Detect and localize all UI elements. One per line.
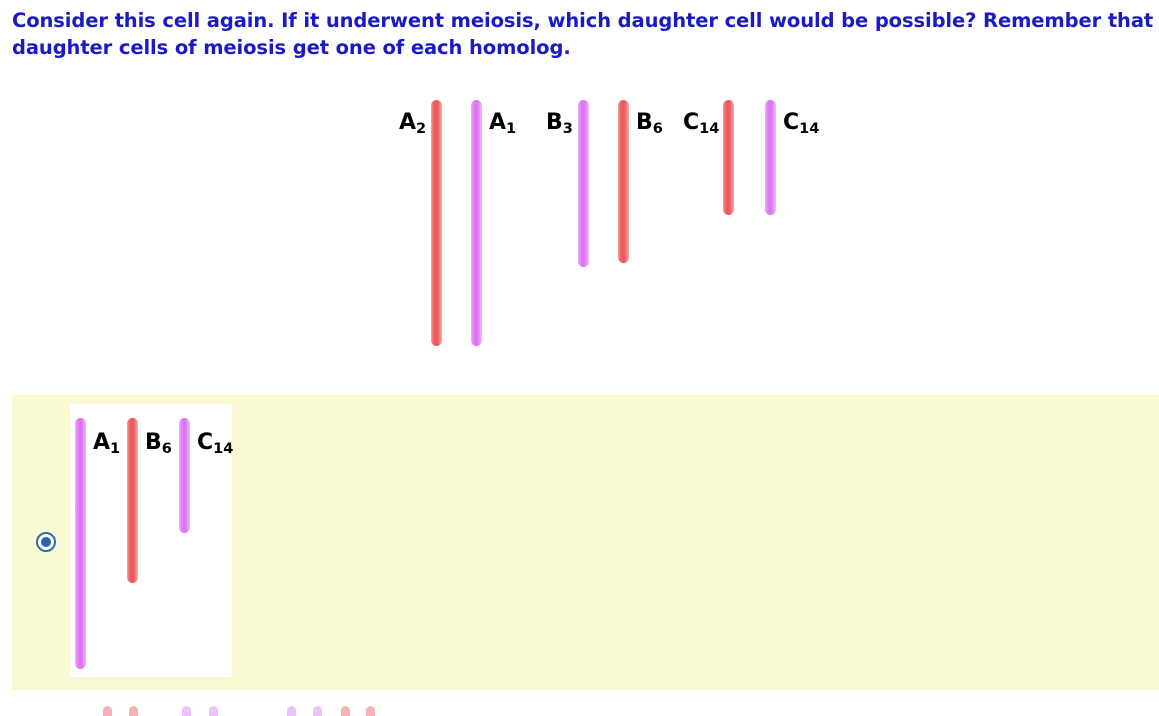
chromosome-label-c14-option1-2: C14 [197, 432, 233, 454]
chromosome-label-c14-parent-5: C14 [783, 112, 819, 134]
chromosome-label-b3-parent-2: B3 [546, 112, 573, 134]
next-option-chromosome-tip-5 [313, 706, 322, 716]
chromosome-b3-parent-2 [578, 100, 589, 267]
chromosome-label-b6-option1-1: B6 [145, 432, 172, 454]
label-subscript: 14 [699, 121, 719, 137]
label-base: B [546, 110, 563, 135]
label-base: B [145, 430, 162, 455]
chromosome-c14-option1-2 [179, 418, 190, 533]
label-base: B [636, 110, 653, 135]
next-option-chromosome-tip-3 [209, 706, 218, 716]
chromosome-c14-parent-5 [765, 100, 776, 215]
chromosome-label-b6-parent-3: B6 [636, 112, 663, 134]
chromosome-b6-parent-3 [618, 100, 629, 263]
chromosome-a1-option1-0 [75, 418, 86, 669]
answer-options-list: A1B6C14 [0, 386, 1159, 716]
next-option-chromosome-tip-2 [182, 706, 191, 716]
next-option-chromosome-tip-6 [341, 706, 350, 716]
parent-cell-figure: A2A1B3B6C14C14 [0, 0, 1159, 386]
answer-option-1[interactable]: A1B6C14 [12, 395, 1159, 690]
chromosome-label-a1-option1-0: A1 [93, 432, 120, 454]
label-subscript: 2 [416, 121, 426, 137]
chromosome-label-a1-parent-1: A1 [489, 112, 516, 134]
next-option-chromosome-tip-0 [103, 706, 112, 716]
label-base: C [683, 110, 699, 135]
label-base: C [197, 430, 213, 455]
next-option-chromosome-tip-7 [366, 706, 375, 716]
label-subscript: 3 [563, 121, 573, 137]
label-subscript: 14 [799, 121, 819, 137]
label-subscript: 14 [213, 441, 233, 457]
chromosome-c14-parent-4 [723, 100, 734, 215]
chromosome-label-c14-parent-4: C14 [683, 112, 719, 134]
label-base: A [489, 110, 506, 135]
label-base: C [783, 110, 799, 135]
label-subscript: 6 [653, 121, 663, 137]
label-base: A [93, 430, 110, 455]
chromosome-a1-parent-1 [471, 100, 482, 346]
chromosome-a2-parent-0 [431, 100, 442, 346]
label-base: A [399, 110, 416, 135]
label-subscript: 1 [110, 441, 120, 457]
next-option-partial-preview [0, 706, 1159, 716]
label-subscript: 6 [162, 441, 172, 457]
next-option-chromosome-tip-4 [287, 706, 296, 716]
chromosome-label-a2-parent-0: A2 [399, 112, 426, 134]
next-option-chromosome-tip-1 [129, 706, 138, 716]
chromosome-b6-option1-1 [127, 418, 138, 583]
radio-button-option-1[interactable] [36, 532, 56, 552]
label-subscript: 1 [506, 121, 516, 137]
